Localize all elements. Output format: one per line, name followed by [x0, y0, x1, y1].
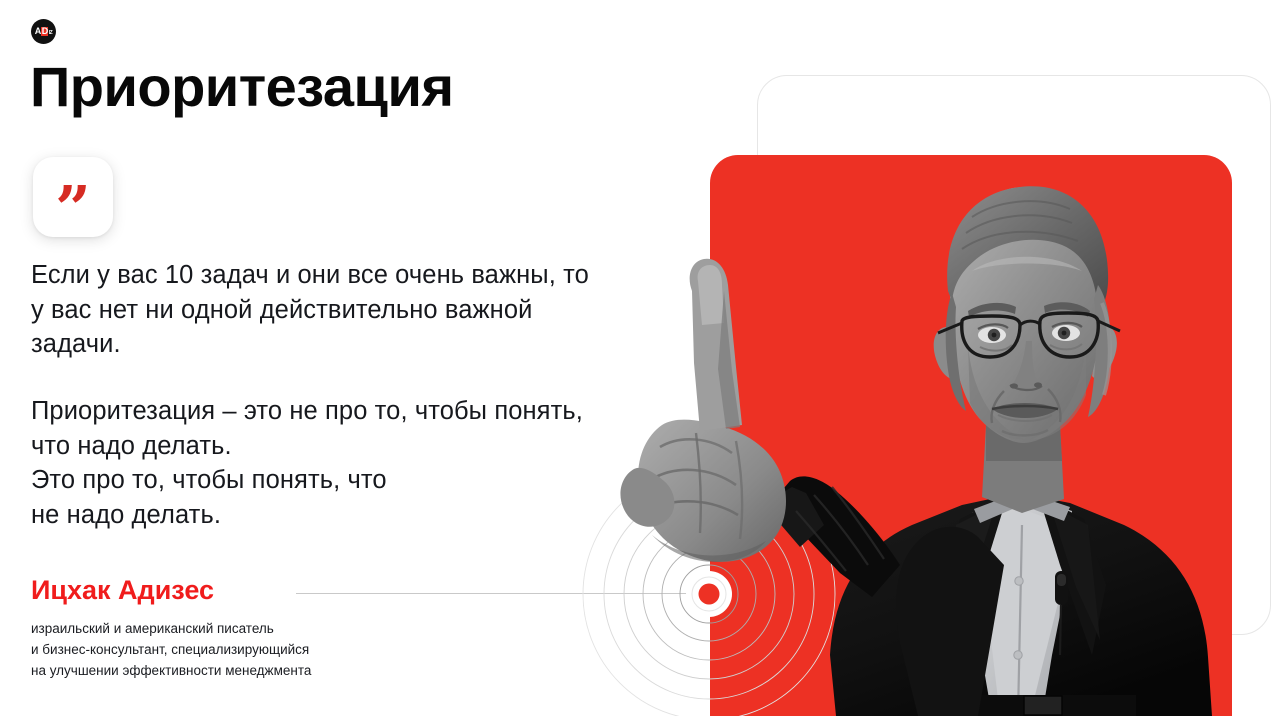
- author-name: Ицхак Адизес: [31, 576, 451, 606]
- quote-p2-line-3: Это про то, чтобы понять, что: [31, 466, 387, 494]
- logo-wordmark: ADIZ: [35, 27, 52, 36]
- quote-p2-line-1: Приоритезация – это не про то, чтобы: [31, 397, 487, 425]
- logo-letter-a: A: [35, 27, 41, 36]
- adizes-logo[interactable]: ADIZ: [31, 19, 56, 44]
- author-description-line-2: и бизнес-консультант, специализирующийся: [31, 640, 451, 661]
- author-description-line-3: на улучшении эффективности менеджмента: [31, 661, 451, 682]
- target-center-dot: [684, 569, 734, 619]
- pointing-hand: [620, 259, 786, 562]
- page-title: Приоритезация: [30, 56, 454, 118]
- author-description: израильский и американский писатель и би…: [31, 619, 451, 682]
- logo-subtext: IZ: [49, 31, 52, 36]
- author-description-line-1: израильский и американский писатель: [31, 619, 451, 640]
- quotation-mark-icon: ”: [55, 178, 91, 240]
- quote-mark-card: ”: [33, 157, 113, 237]
- quote-paragraph-2: Приоритезация – это не про то, чтобы пон…: [31, 394, 591, 533]
- logo-letter-d: D: [41, 27, 48, 36]
- attribution-block: Ицхак Адизес израильский и американский …: [31, 576, 451, 681]
- speaker-portrait: [600, 95, 1240, 716]
- quote-p2-line-4: не надо делать.: [31, 501, 221, 529]
- quote-text-block: Если у вас 10 задач и они все очень важн…: [31, 258, 591, 533]
- quote-paragraph-1: Если у вас 10 задач и они все очень важн…: [31, 258, 591, 362]
- slide-root: ADIZ Приоритезация ” Если у вас 10 задач…: [0, 0, 1284, 716]
